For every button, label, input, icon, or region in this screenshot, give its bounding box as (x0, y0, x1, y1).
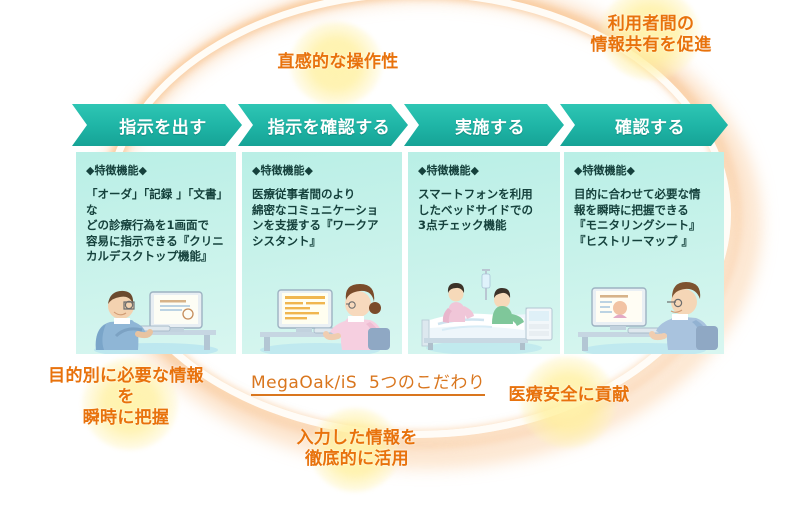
feature-heading-2: ◆特徴機能◆ (252, 162, 402, 178)
feature-heading-4: ◆特徴機能◆ (574, 162, 724, 178)
step-chevron-3[interactable]: 実施する (404, 104, 564, 146)
callout-purpose-based-info: 目的別に必要な情報 を 瞬時に把握 (20, 366, 232, 429)
step-label-2: 指示を確認する (268, 113, 391, 138)
illustration-bedside-patient-scene (408, 264, 560, 354)
feature-text-1: 「オーダ」「記録 」「文書」な どの診療行為を1画面で 容易に指示できる『クリニ… (86, 187, 227, 265)
step-panel-4[interactable]: ◆特徴機能◆ 目的に合わせて必要な情 報を瞬時に把握できる 『モニタリングシート… (564, 152, 724, 354)
feature-text-3: スマートフォンを利用 したベッドサイドでの 3点チェック機能 (418, 187, 551, 234)
step-chevron-2[interactable]: 指示を確認する (238, 104, 408, 146)
callout-information-sharing: 利用者間の 情報共有を促進 (556, 14, 746, 56)
step-label-4: 確認する (615, 113, 685, 138)
illustration-doctor-at-computer (76, 264, 236, 354)
step-panel-2[interactable]: ◆特徴機能◆ 医療従事者間のより 綿密なコミュニケーショ ンを支援する『ワークア… (242, 152, 402, 354)
step-panel-3[interactable]: ◆特徴機能◆ スマートフォンを利用 したベッドサイドでの 3点チェック機能 (408, 152, 560, 354)
step-label-3: 実施する (455, 113, 525, 138)
feature-heading-1: ◆特徴機能◆ (86, 162, 236, 178)
feature-text-2: 医療従事者間のより 綿密なコミュニケーショ ンを支援する『ワークア シスタント』 (252, 187, 393, 249)
step-chevron-1[interactable]: 指示を出す (72, 104, 242, 146)
diagram-canvas: 直感的な操作性 利用者間の 情報共有を促進 目的別に必要な情報 を 瞬時に把握 … (0, 0, 800, 512)
step-label-1: 指示を出す (119, 113, 207, 138)
feature-text-4: 目的に合わせて必要な情 報を瞬時に把握できる 『モニタリングシート』 『ヒストリ… (574, 187, 715, 249)
illustration-nurse-at-computer (242, 264, 402, 354)
illustration-doctor-reviewing-monitor (564, 264, 724, 354)
callout-thorough-utilization: 入力した情報を 徹底的に活用 (262, 428, 452, 470)
feature-heading-3: ◆特徴機能◆ (418, 162, 560, 178)
step-panel-1[interactable]: ◆特徴機能◆ 「オーダ」「記録 」「文書」な どの診療行為を1画面で 容易に指示… (76, 152, 236, 354)
callout-intuitive-operability: 直感的な操作性 (248, 52, 428, 73)
diagram-title: MegaOak/iS 5つのこだわり (251, 368, 485, 396)
callout-medical-safety: 医療安全に貢献 (476, 385, 662, 406)
step-chevron-4[interactable]: 確認する (560, 104, 728, 146)
